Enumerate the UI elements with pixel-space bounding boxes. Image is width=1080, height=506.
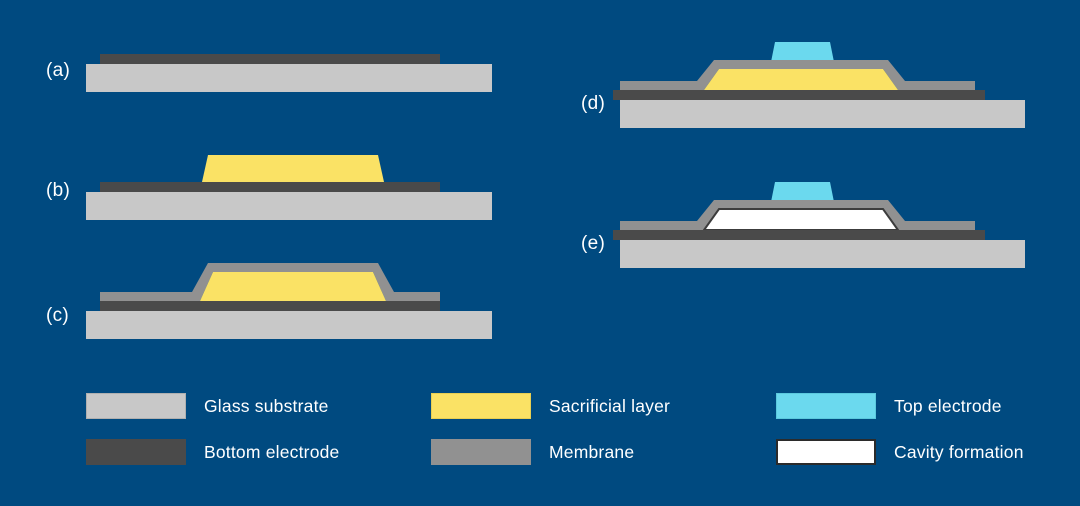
bottom-electrode-layer bbox=[613, 230, 985, 240]
panel-c-cross-section bbox=[40, 255, 510, 337]
legend-item-top-electrode: Top electrode bbox=[776, 393, 1036, 419]
glass-substrate-layer bbox=[620, 100, 1025, 128]
bottom-electrode-layer bbox=[100, 301, 440, 311]
legend-label-sacrificial-layer: Sacrificial layer bbox=[549, 396, 670, 417]
legend-label-bottom-electrode: Bottom electrode bbox=[204, 442, 340, 463]
legend: Glass substrate Sacrificial layer Top el… bbox=[86, 390, 1036, 468]
glass-substrate-layer bbox=[86, 311, 492, 339]
legend-swatch-cavity-formation bbox=[776, 439, 876, 465]
panel-b-cross-section bbox=[40, 140, 510, 212]
cavity-formation-shape bbox=[704, 209, 898, 230]
panel-a: (a) bbox=[40, 40, 510, 100]
sacrificial-layer-shape bbox=[704, 69, 898, 90]
glass-substrate-layer bbox=[86, 192, 492, 220]
glass-substrate-layer bbox=[620, 240, 1025, 268]
panel-e-cross-section bbox=[575, 175, 1045, 270]
panel-d: (d) bbox=[575, 35, 1045, 130]
legend-swatch-bottom-electrode bbox=[86, 439, 186, 465]
panel-e-label: (e) bbox=[581, 233, 605, 255]
legend-label-cavity-formation: Cavity formation bbox=[894, 442, 1024, 463]
sacrificial-layer-shape bbox=[202, 155, 384, 182]
legend-label-top-electrode: Top electrode bbox=[894, 396, 1002, 417]
figure-canvas: (a) (b) (c) (d) bbox=[0, 0, 1080, 506]
legend-swatch-glass-substrate bbox=[86, 393, 186, 419]
legend-swatch-sacrificial-layer bbox=[431, 393, 531, 419]
legend-item-bottom-electrode: Bottom electrode bbox=[86, 439, 431, 465]
legend-item-glass-substrate: Glass substrate bbox=[86, 393, 431, 419]
bottom-electrode-layer bbox=[100, 182, 440, 192]
panel-d-label: (d) bbox=[581, 93, 605, 115]
legend-label-membrane: Membrane bbox=[549, 442, 634, 463]
legend-swatch-membrane bbox=[431, 439, 531, 465]
sacrificial-layer-shape bbox=[200, 272, 386, 301]
panel-b: (b) bbox=[40, 140, 510, 212]
legend-label-glass-substrate: Glass substrate bbox=[204, 396, 329, 417]
glass-substrate-layer bbox=[86, 64, 492, 92]
bottom-electrode-layer bbox=[100, 54, 440, 64]
bottom-electrode-layer bbox=[613, 90, 985, 100]
panel-c-label: (c) bbox=[46, 305, 69, 327]
legend-swatch-top-electrode bbox=[776, 393, 876, 419]
legend-item-sacrificial-layer: Sacrificial layer bbox=[431, 393, 776, 419]
panel-a-cross-section bbox=[40, 40, 510, 100]
legend-item-membrane: Membrane bbox=[431, 439, 776, 465]
panel-d-cross-section bbox=[575, 35, 1045, 130]
panel-c: (c) bbox=[40, 255, 510, 337]
panel-a-label: (a) bbox=[46, 60, 70, 82]
legend-item-cavity-formation: Cavity formation bbox=[776, 439, 1036, 465]
panel-e: (e) bbox=[575, 175, 1045, 270]
panel-b-label: (b) bbox=[46, 180, 70, 202]
